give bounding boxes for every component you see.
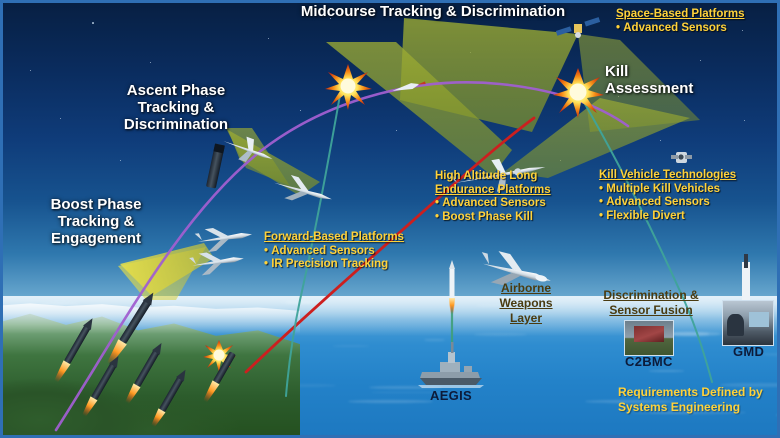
bullet-text: Advanced Sensors (623, 22, 727, 34)
callout-forward-based-platforms: Forward-Based Platforms • Advanced Senso… (264, 231, 404, 272)
bullet-text: IR Precision Tracking (271, 258, 388, 270)
callout-hale-bullet-1: • Advanced Sensors (435, 197, 551, 211)
callout-discrimination-sensor-fusion: Discrimination & Sensor Fusion (589, 288, 713, 318)
bullet-text: Boost Phase Kill (442, 211, 533, 223)
callout-kill-vehicle-title: Kill Vehicle Technologies (599, 169, 736, 183)
heading-kill-assessment-line-2: Assessment (605, 80, 735, 97)
boosting-missile (105, 290, 158, 367)
callout-kill-vehicle-bullet-1: • Multiple Kill Vehicles (599, 183, 736, 197)
sensor-beam-group (118, 18, 700, 300)
airborne-weapons-line-2: Weapons (478, 296, 574, 311)
callout-requirements-systems-engineering: Requirements Defined by Systems Engineer… (618, 385, 763, 415)
label-gmd: GMD (733, 344, 764, 359)
heading-ascent-line-1: Ascent Phase (106, 82, 246, 99)
callout-kill-vehicle-technologies: Kill Vehicle Technologies • Multiple Kil… (599, 169, 736, 223)
heading-ascent-phase: Ascent Phase Tracking & Discrimination (106, 82, 246, 133)
heading-midcourse: Midcourse Tracking & Discrimination (283, 3, 583, 20)
callout-space-based-title: Space-Based Platforms (616, 8, 744, 22)
label-c2bmc: C2BMC (625, 354, 673, 369)
bullet-text: Flexible Divert (606, 210, 685, 222)
callout-airborne-weapons-layer: Airborne Weapons Layer (478, 281, 574, 326)
airborne-weapons-line-1: Airborne (478, 281, 574, 296)
airborne-weapons-line-3: Layer (478, 311, 574, 326)
callout-forward-based-bullet-2: • IR Precision Tracking (264, 258, 404, 272)
exoatmospheric-kill-vehicle (671, 152, 692, 163)
gmd-launch-structure (742, 254, 750, 302)
heading-kill-assessment: Kill Assessment (605, 63, 735, 97)
requirements-line-1: Requirements Defined by (618, 385, 763, 400)
ascent-phase-booster (206, 143, 225, 188)
callout-kill-vehicle-bullet-3: • Flexible Divert (599, 210, 736, 224)
aegis-destroyer (418, 342, 484, 388)
boosting-missile (149, 367, 189, 428)
bullet-text: Advanced Sensors (442, 197, 546, 209)
heading-boost-line-1: Boost Phase (26, 196, 166, 213)
heading-boost-line-2: Tracking & (26, 213, 166, 230)
callout-forward-based-bullet-1: • Advanced Sensors (264, 245, 404, 259)
label-aegis: AEGIS (430, 388, 472, 403)
c2bmc-photo (624, 320, 674, 356)
callout-forward-based-title: Forward-Based Platforms (264, 231, 404, 245)
bullet-text: Advanced Sensors (606, 196, 710, 208)
boosting-missile (80, 354, 122, 418)
heading-ascent-line-3: Discrimination (106, 116, 246, 133)
missile-defense-architecture-diagram: Midcourse Tracking & Discrimination Asce… (0, 0, 780, 438)
sm3-interceptor (449, 260, 455, 314)
callout-hale-title-line-2: Endurance Platforms (435, 184, 551, 198)
callout-kill-vehicle-bullet-2: • Advanced Sensors (599, 196, 736, 210)
callout-hale-bullet-2: • Boost Phase Kill (435, 211, 551, 225)
heading-ascent-line-2: Tracking & (106, 99, 246, 116)
heading-boost-line-3: Engagement (26, 230, 166, 247)
gmd-photo (722, 300, 774, 346)
callout-space-based-platforms: Space-Based Platforms • Advanced Sensors (616, 8, 744, 35)
callout-space-based-bullet-1: • Advanced Sensors (616, 22, 744, 36)
boosting-missile (123, 341, 165, 405)
callout-hale-title-line-1: High Altitude Long (435, 170, 551, 184)
requirements-line-2: Systems Engineering (618, 400, 763, 415)
heading-kill-assessment-line-1: Kill (605, 63, 735, 80)
bullet-text: Advanced Sensors (271, 245, 375, 257)
callout-hale-platforms: High Altitude Long Endurance Platforms •… (435, 170, 551, 224)
discrimination-line-2: Sensor Fusion (589, 303, 713, 318)
bullet-text: Multiple Kill Vehicles (606, 183, 720, 195)
heading-boost-phase: Boost Phase Tracking & Engagement (26, 196, 166, 247)
discrimination-line-1: Discrimination & (589, 288, 713, 303)
